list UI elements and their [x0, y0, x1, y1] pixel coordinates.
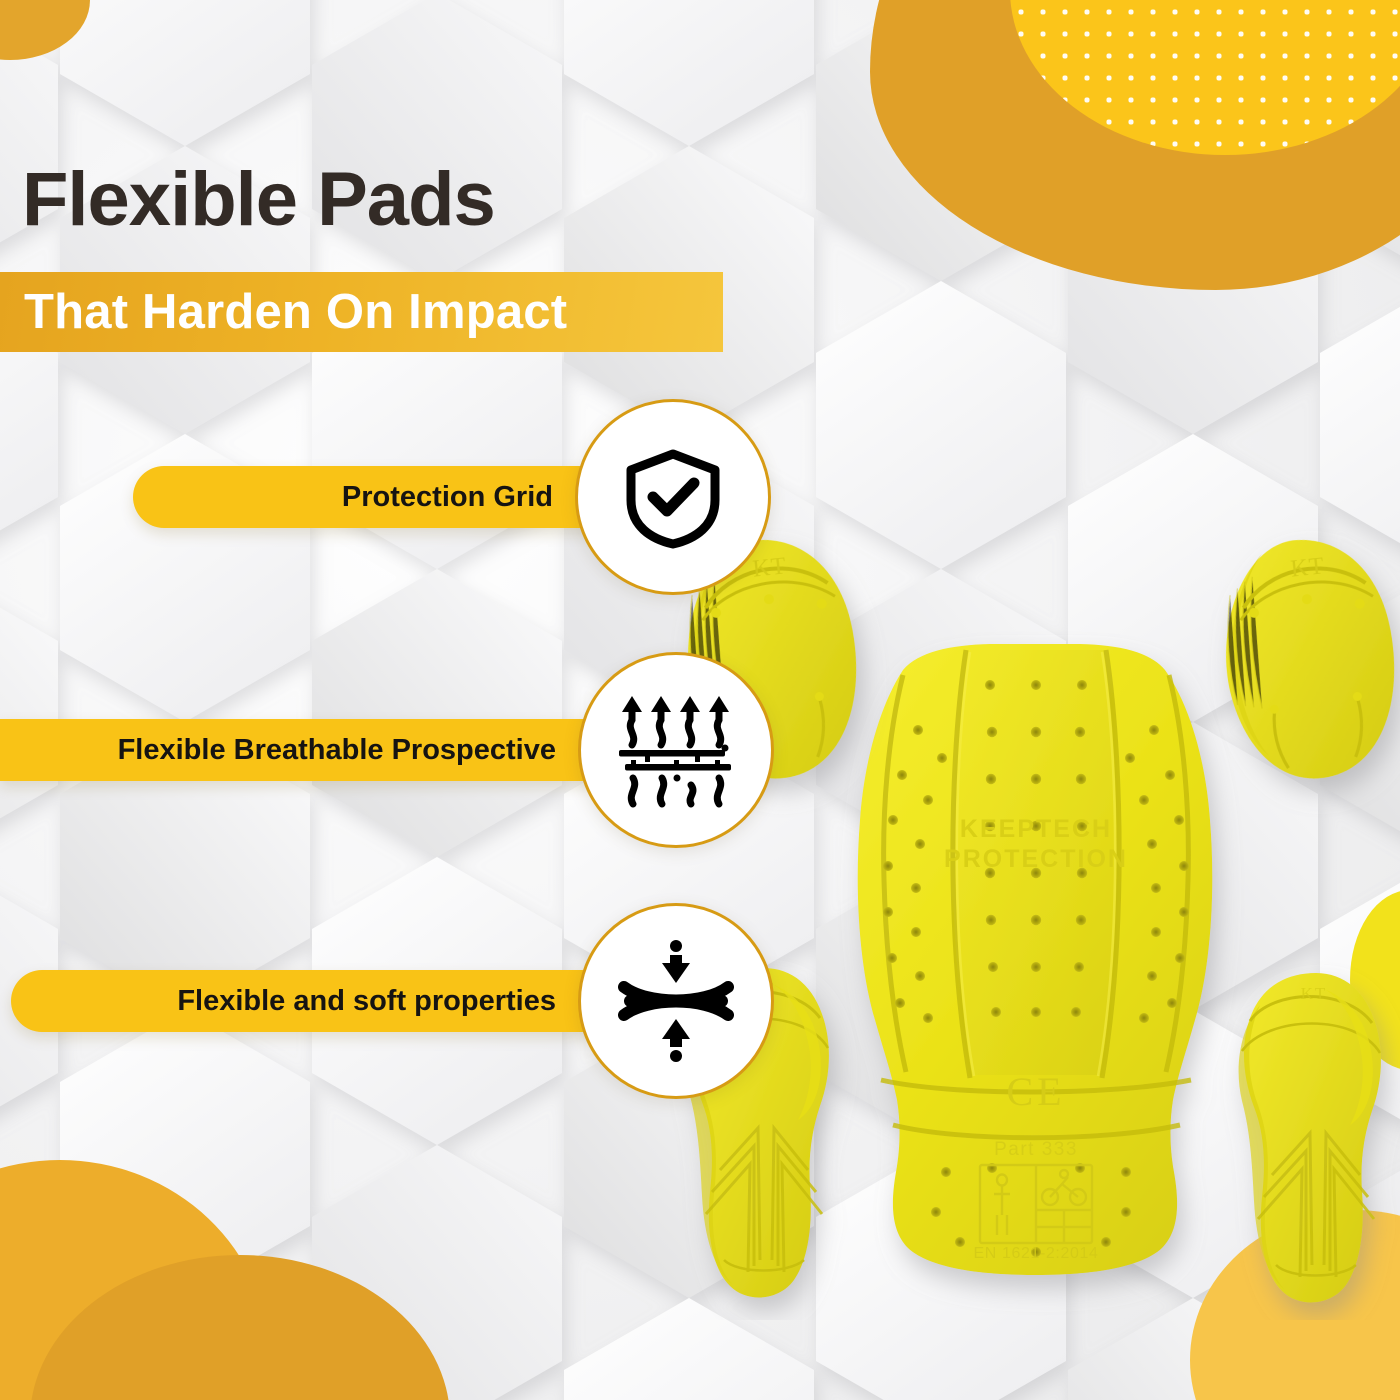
en-standard-label: EN 1621-2:2014 — [974, 1245, 1099, 1262]
breathability-arrows-icon — [578, 652, 774, 848]
page-title: Flexible Pads — [22, 162, 495, 238]
shoulder-pad-right: KT — [1214, 531, 1400, 787]
feature-pill-breathable[interactable]: Flexible Breathable Prospective — [0, 719, 638, 781]
pad-brand-line-1: KEEPTECH — [960, 815, 1112, 843]
feature-row-soft-properties[interactable]: Flexible and soft properties — [11, 903, 774, 1099]
compression-cushion-icon — [578, 903, 774, 1099]
part-number: Part 333 — [994, 1139, 1078, 1160]
decor-blob-top-right-dotted — [1010, 0, 1400, 155]
shield-check-icon — [575, 399, 771, 595]
page-subtitle-banner: That Harden On Impact — [0, 272, 723, 352]
feature-label-soft-properties: Flexible and soft properties — [177, 985, 556, 1018]
infographic-canvas: KEEPTECH PROTECTION CE Part 333 — [0, 0, 1400, 1400]
feature-pill-protection-grid[interactable]: Protection Grid — [133, 466, 635, 528]
page-subtitle: That Harden On Impact — [0, 284, 567, 340]
elbow-pad-right: KT — [1239, 973, 1381, 1302]
feature-pill-soft-properties[interactable]: Flexible and soft properties — [11, 970, 638, 1032]
back-protector-pad: KEEPTECH PROTECTION CE Part 333 — [858, 644, 1213, 1275]
ce-mark: CE — [1006, 1069, 1065, 1114]
shoulder-pad-right-logo: KT — [1289, 553, 1326, 582]
halftone-dot-pattern — [1010, 0, 1400, 155]
feature-row-breathable[interactable]: Flexible Breathable Prospective — [0, 652, 774, 848]
elbow-pad-right-logo: KT — [1301, 984, 1328, 1003]
feature-label-breathable: Flexible Breathable Prospective — [118, 734, 556, 767]
pad-brand-line-2: PROTECTION — [944, 845, 1128, 873]
feature-label-protection-grid: Protection Grid — [342, 481, 553, 514]
feature-row-protection-grid[interactable]: Protection Grid — [133, 399, 771, 595]
